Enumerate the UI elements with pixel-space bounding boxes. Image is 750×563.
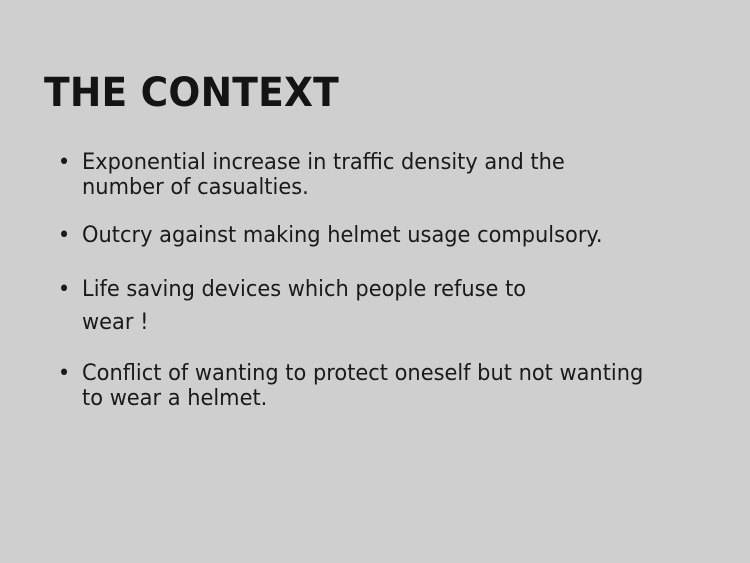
list-item: • Conflict of wanting to protect oneself…: [56, 361, 698, 411]
bullet-point-icon: •: [58, 361, 77, 386]
list-item: • Exponential increase in traffic densit…: [56, 150, 698, 200]
bullet-point-icon: •: [58, 273, 77, 306]
list-item: • Outcry against making helmet usage com…: [56, 223, 698, 248]
list-item-text: Life saving devices which people refuse …: [82, 273, 698, 339]
slide-canvas: THE CONTEXT • Exponential increase in tr…: [0, 0, 750, 563]
bullet-list: • Exponential increase in traffic densit…: [56, 150, 746, 411]
list-item-text: Conflict of wanting to protect oneself b…: [82, 361, 698, 411]
list-item: • Life saving devices which people refus…: [56, 273, 698, 339]
list-item-text: Outcry against making helmet usage compu…: [82, 223, 698, 248]
list-item-text: Exponential increase in traffic density …: [82, 150, 698, 200]
page-title: THE CONTEXT: [44, 70, 339, 116]
bullet-point-icon: •: [58, 150, 77, 175]
bullet-point-icon: •: [58, 223, 77, 248]
